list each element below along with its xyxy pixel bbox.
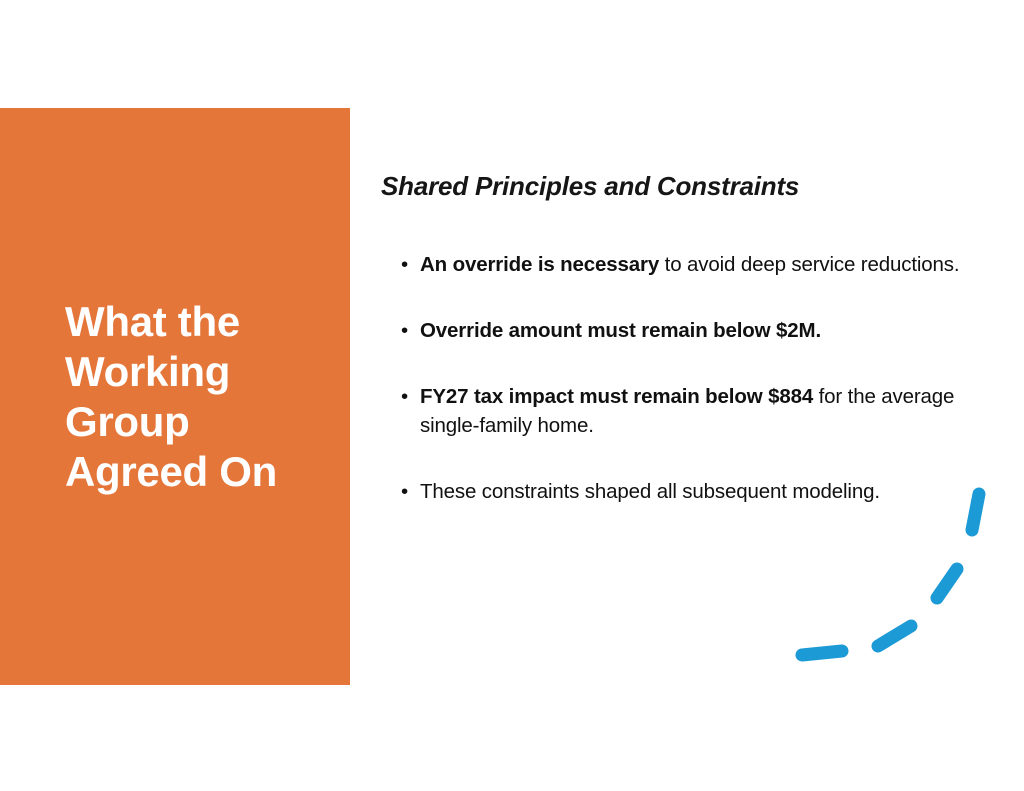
page-title: What the Working Group Agreed On bbox=[0, 297, 297, 497]
slide-canvas: What the Working Group Agreed On Shared … bbox=[0, 0, 1024, 791]
list-item: • FY27 tax impact must remain below $884… bbox=[381, 382, 981, 440]
list-item: • An override is necessary to avoid deep… bbox=[381, 250, 981, 279]
bullet-point-icon: • bbox=[401, 382, 408, 411]
dashed-arc-decoration bbox=[780, 480, 1010, 680]
arc-dash-2 bbox=[878, 626, 911, 646]
list-item-text: These constraints shaped all subsequent … bbox=[420, 480, 880, 503]
list-item-emphasis: FY27 tax impact must remain below $884 bbox=[420, 385, 813, 408]
list-item: • Override amount must remain below $2M. bbox=[381, 316, 981, 345]
list-item-text: to avoid deep service reductions. bbox=[659, 253, 959, 276]
title-block: What the Working Group Agreed On bbox=[0, 108, 350, 685]
content-column: Shared Principles and Constraints • An o… bbox=[381, 170, 981, 506]
bullet-point-icon: • bbox=[401, 477, 408, 506]
arc-dash-1 bbox=[802, 651, 842, 655]
list-item: • These constraints shaped all subsequen… bbox=[381, 477, 981, 506]
bullet-point-icon: • bbox=[401, 250, 408, 279]
bullet-point-icon: • bbox=[401, 316, 408, 345]
list-item-emphasis: An override is necessary bbox=[420, 253, 659, 276]
content-heading: Shared Principles and Constraints bbox=[381, 170, 981, 202]
bullet-list: • An override is necessary to avoid deep… bbox=[381, 250, 981, 506]
list-item-emphasis: Override amount must remain below $2M. bbox=[420, 319, 821, 342]
arc-dash-3 bbox=[937, 569, 957, 598]
